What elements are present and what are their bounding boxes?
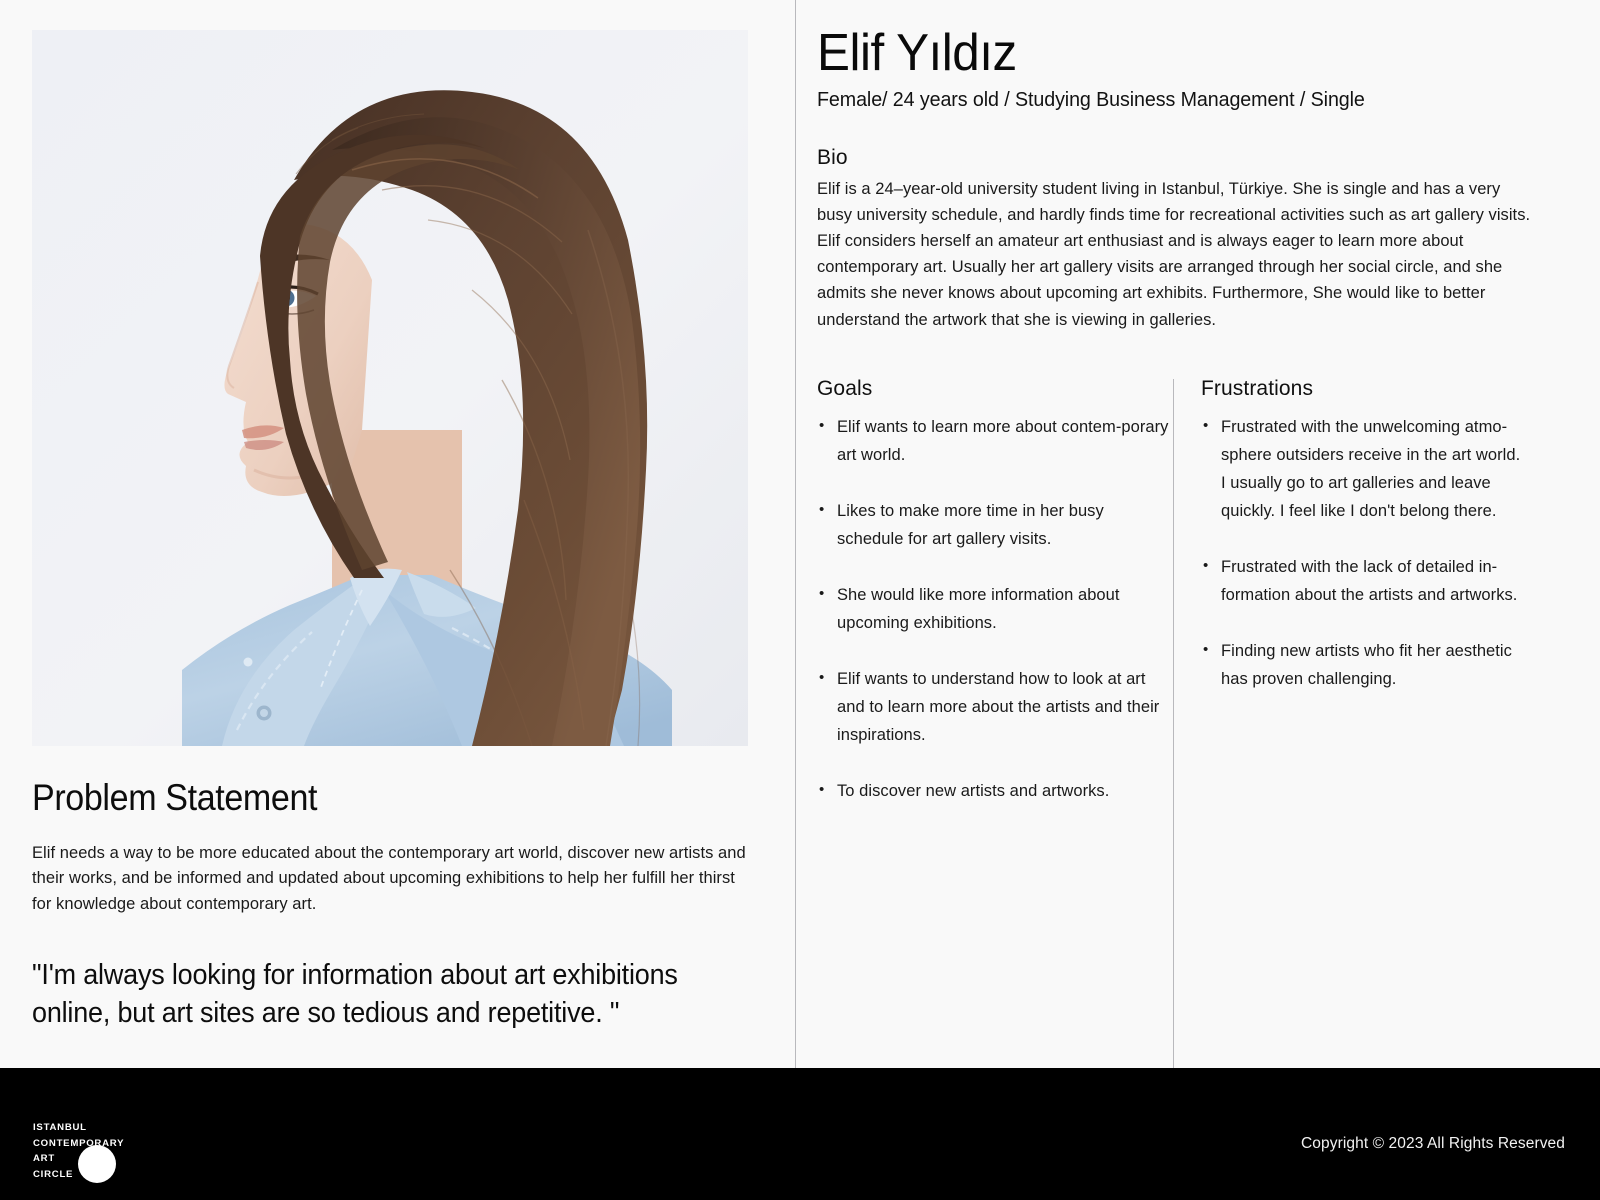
goals-frustrations-wrapper: Goals Elif wants to learn more about con… bbox=[817, 377, 1557, 833]
logo-circle-icon bbox=[78, 1145, 116, 1183]
list-item: She would like more information about up… bbox=[817, 581, 1173, 637]
problem-statement-body: Elif needs a way to be more educated abo… bbox=[32, 841, 748, 918]
frustrations-heading: Frustrations bbox=[1201, 377, 1529, 401]
list-item: Likes to make more time in her busy sche… bbox=[817, 497, 1173, 553]
bio-body: Elif is a 24–year-old university student… bbox=[817, 176, 1533, 332]
brand-logo[interactable]: ISTANBUL CONTEMPORARY ART CIRCLE bbox=[33, 1120, 173, 1186]
right-column: Elif Yıldız Female/ 24 years old / Study… bbox=[817, 24, 1557, 833]
persona-quote: "I'm always looking for information abou… bbox=[32, 957, 683, 1032]
goals-list: Elif wants to learn more about contem-po… bbox=[817, 413, 1173, 805]
list-item: Finding new artists who fit her aestheti… bbox=[1201, 637, 1529, 693]
main-column-divider bbox=[795, 0, 796, 1068]
page-footer bbox=[0, 1068, 1600, 1200]
persona-page: Problem Statement Elif needs a way to be… bbox=[0, 0, 1600, 1200]
frustrations-list: Frustrated with the unwelcoming atmo-sph… bbox=[1201, 413, 1529, 693]
list-item: To discover new artists and artworks. bbox=[817, 777, 1173, 805]
logo-line-1: ISTANBUL bbox=[33, 1120, 173, 1136]
persona-meta: Female/ 24 years old / Studying Business… bbox=[817, 88, 1527, 112]
persona-photo bbox=[32, 30, 748, 746]
copyright-text: Copyright © 2023 All Rights Reserved bbox=[1301, 1135, 1565, 1153]
left-column: Problem Statement Elif needs a way to be… bbox=[32, 30, 748, 1033]
bio-block: Bio Elif is a 24–year-old university stu… bbox=[817, 146, 1557, 332]
goals-column: Goals Elif wants to learn more about con… bbox=[817, 377, 1173, 833]
goals-heading: Goals bbox=[817, 377, 1173, 401]
goals-frustrations-divider bbox=[1173, 379, 1174, 1079]
frustrations-column: Frustrations Frustrated with the unwelco… bbox=[1173, 377, 1529, 833]
list-item: Frustrated with the lack of detailed in-… bbox=[1201, 553, 1529, 609]
list-item: Frustrated with the unwelcoming atmo-sph… bbox=[1201, 413, 1529, 525]
problem-statement-heading: Problem Statement bbox=[32, 778, 691, 819]
list-item: Elif wants to understand how to look at … bbox=[817, 665, 1173, 749]
persona-name: Elif Yıldız bbox=[817, 24, 1520, 82]
list-item: Elif wants to learn more about contem-po… bbox=[817, 413, 1173, 469]
persona-portrait-illustration bbox=[32, 30, 748, 746]
bio-heading: Bio bbox=[817, 146, 1557, 170]
